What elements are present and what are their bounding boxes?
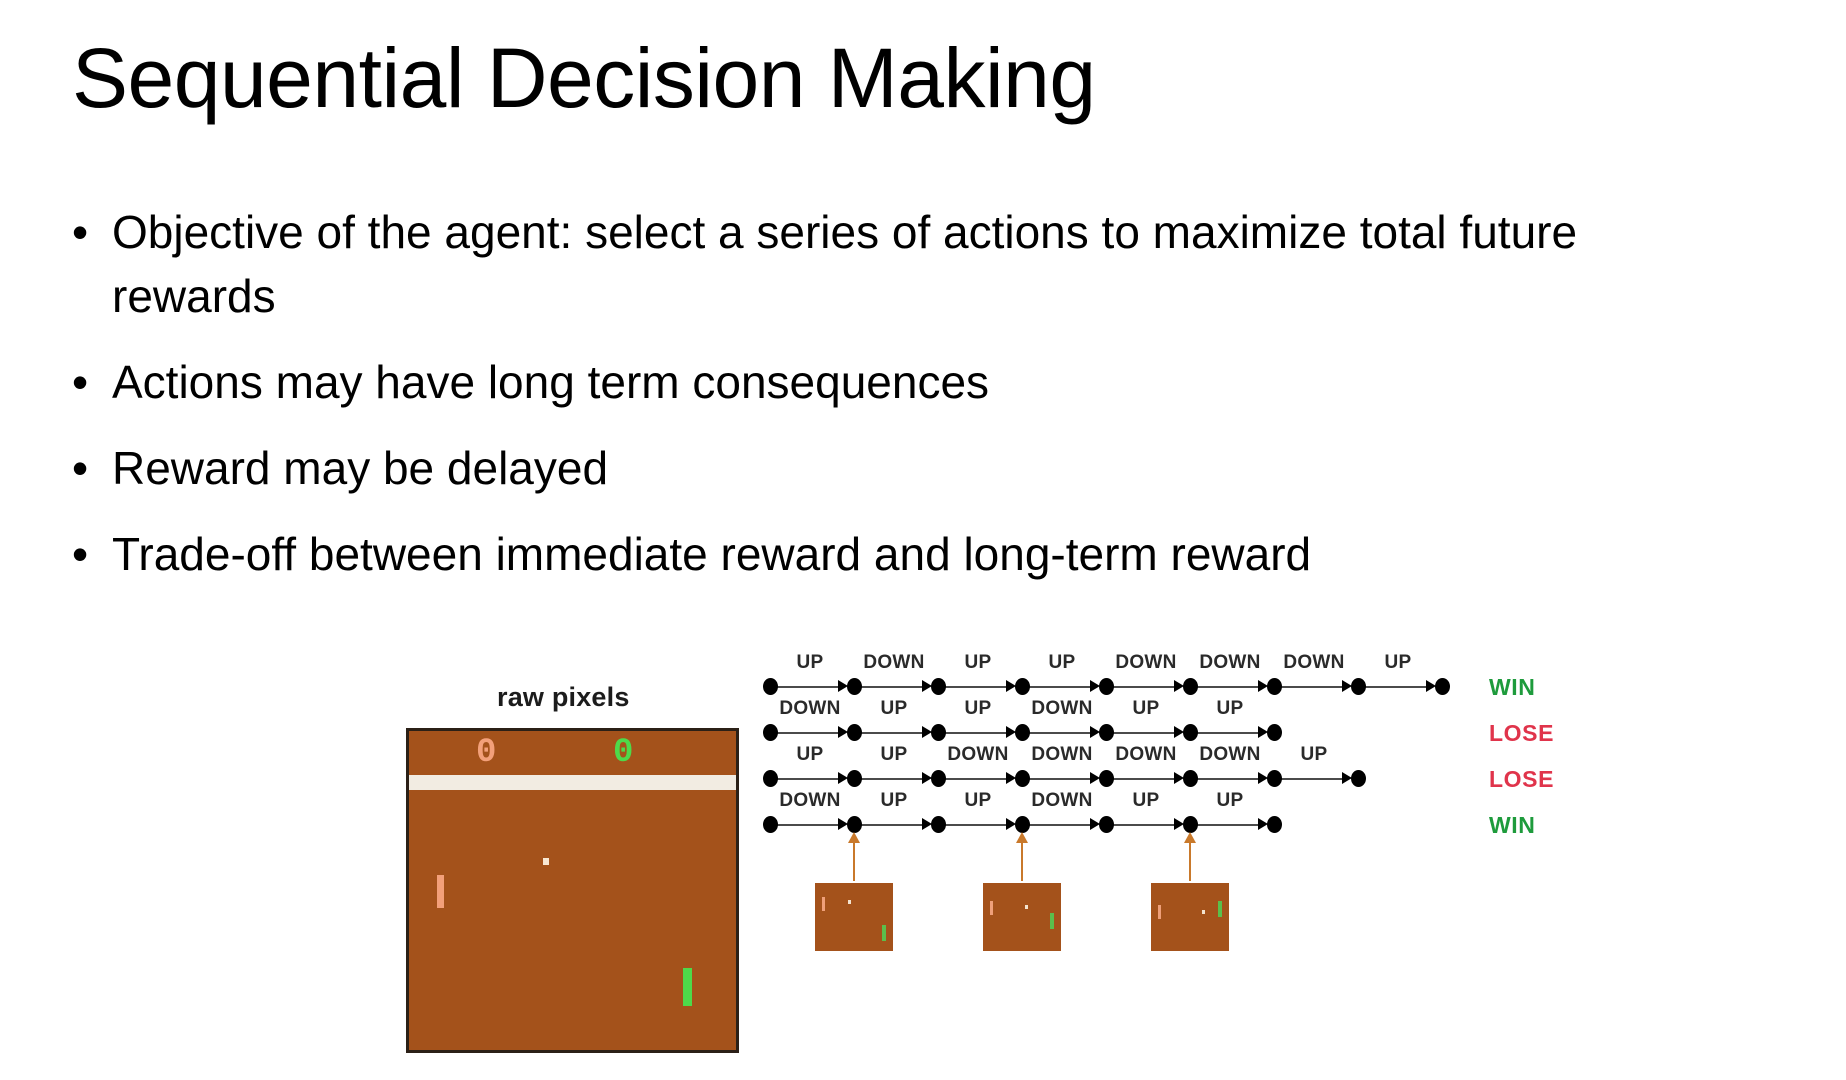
trajectory-edge: [945, 686, 1007, 688]
trajectory-state-node: [1351, 678, 1366, 695]
trajectory-row: DOWNUPUPDOWNUPUPLOSE: [0, 698, 1846, 742]
trajectory-action-label: DOWN: [1115, 744, 1176, 766]
trajectory-state-node: [1015, 678, 1030, 695]
trajectory-action-label: UP: [881, 790, 908, 812]
trajectory-action-label: UP: [1133, 698, 1160, 720]
trajectory-state-node: [931, 724, 946, 741]
trajectory-action-label: DOWN: [1115, 652, 1176, 674]
trajectory-action-label: UP: [965, 790, 992, 812]
trajectory-action-label: DOWN: [1031, 744, 1092, 766]
state-thumbnail: [1151, 883, 1229, 951]
trajectory-action-label: DOWN: [779, 698, 840, 720]
state-arrow-icon: [853, 838, 855, 881]
trajectory-action-label: UP: [881, 744, 908, 766]
thumb-paddle-left: [822, 897, 825, 911]
trajectory-action-label: UP: [965, 652, 992, 674]
trajectory-state-node: [1015, 724, 1030, 741]
trajectory-state-node: [931, 770, 946, 787]
trajectory-row: DOWNUPUPDOWNUPUPWIN: [0, 790, 1846, 834]
trajectory-action-label: UP: [1217, 790, 1244, 812]
trajectory-edge: [777, 686, 839, 688]
trajectory-outcome-label: WIN: [1489, 674, 1536, 701]
trajectory-row: UPUPDOWNDOWNDOWNDOWNUPLOSE: [0, 744, 1846, 788]
thumb-paddle-right: [1050, 913, 1054, 929]
bullet-point-icon: •: [72, 200, 112, 264]
page-title: Sequential Decision Making: [72, 34, 1096, 122]
thumb-ball: [1202, 910, 1205, 914]
bullet-text: Actions may have long term consequences: [112, 350, 989, 414]
trajectory-state-node: [1183, 724, 1198, 741]
state-arrow-icon: [1189, 838, 1191, 881]
trajectory-action-label: DOWN: [1199, 652, 1260, 674]
trajectory-state-node: [1267, 678, 1282, 695]
trajectory-action-label: UP: [1049, 652, 1076, 674]
trajectory-outcome-label: WIN: [1489, 812, 1536, 839]
bullet-text: Reward may be delayed: [112, 436, 608, 500]
bullet-text: Trade-off between immediate reward and l…: [112, 522, 1311, 586]
bullet-point-icon: •: [72, 350, 112, 414]
thumb-paddle-right: [1218, 901, 1222, 917]
thumb-paddle-left: [990, 901, 993, 915]
thumb-ball: [1025, 905, 1028, 909]
trajectory-action-label: UP: [1385, 652, 1412, 674]
trajectory-action-label: UP: [965, 698, 992, 720]
trajectory-edge: [1113, 732, 1175, 734]
trajectory-edge: [861, 778, 923, 780]
trajectory-edge: [1281, 778, 1343, 780]
trajectory-state-node: [1183, 816, 1198, 833]
trajectory-edge: [861, 824, 923, 826]
trajectory-state-node: [1099, 724, 1114, 741]
trajectory-edge: [1365, 686, 1427, 688]
trajectory-action-label: UP: [797, 652, 824, 674]
trajectory-action-label: DOWN: [1199, 744, 1260, 766]
state-arrow-icon: [1021, 838, 1023, 881]
trajectory-state-node: [1267, 724, 1282, 741]
trajectory-state-node: [931, 816, 946, 833]
trajectory-state-node: [763, 816, 778, 833]
trajectory-edge: [1113, 686, 1175, 688]
trajectory-edge: [1029, 824, 1091, 826]
trajectory-edge: [1113, 824, 1175, 826]
trajectory-edge: [777, 732, 839, 734]
trajectory-action-label: DOWN: [1283, 652, 1344, 674]
trajectory-edge: [1197, 824, 1259, 826]
trajectory-edge: [1197, 686, 1259, 688]
trajectory-action-label: UP: [1301, 744, 1328, 766]
trajectory-state-node: [1183, 770, 1198, 787]
trajectory-state-node: [931, 678, 946, 695]
state-arrow-head-icon: [848, 832, 860, 843]
trajectory-state-node: [1267, 770, 1282, 787]
trajectory-edge: [777, 778, 839, 780]
trajectory-state-node: [1351, 770, 1366, 787]
state-thumbnail: [983, 883, 1061, 951]
list-item: • Trade-off between immediate reward and…: [72, 522, 1792, 586]
trajectory-action-label: UP: [1217, 698, 1244, 720]
bullet-point-icon: •: [72, 436, 112, 500]
trajectory-action-label: UP: [797, 744, 824, 766]
list-item: • Reward may be delayed: [72, 436, 1792, 500]
trajectory-diagram: UPDOWNUPUPDOWNDOWNDOWNUPWINDOWNUPUPDOWNU…: [0, 660, 1846, 1080]
trajectory-state-node: [1099, 678, 1114, 695]
trajectory-edge: [1029, 778, 1091, 780]
trajectory-state-node: [763, 770, 778, 787]
bullet-list: • Objective of the agent: select a serie…: [72, 200, 1792, 608]
trajectory-action-label: DOWN: [779, 790, 840, 812]
figure-sequential-decision-diagram: raw pixels 0 0 UPDOWNUPUPDOWNDOWNDOWNUPW…: [0, 660, 1846, 1080]
trajectory-outcome-label: LOSE: [1489, 766, 1554, 793]
trajectory-state-node: [1099, 816, 1114, 833]
trajectory-state-node: [1183, 678, 1198, 695]
trajectory-edge: [861, 732, 923, 734]
trajectory-state-node: [847, 678, 862, 695]
trajectory-edge: [1029, 732, 1091, 734]
list-item: • Objective of the agent: select a serie…: [72, 200, 1792, 328]
trajectory-outcome-label: LOSE: [1489, 720, 1554, 747]
trajectory-action-label: UP: [881, 698, 908, 720]
trajectory-edge: [1197, 732, 1259, 734]
state-thumbnail: [815, 883, 893, 951]
state-arrow-head-icon: [1184, 832, 1196, 843]
trajectory-state-node: [1099, 770, 1114, 787]
trajectory-edge: [945, 732, 1007, 734]
trajectory-state-node: [1015, 816, 1030, 833]
thumb-paddle-right: [882, 925, 886, 941]
trajectory-edge: [1281, 686, 1343, 688]
bullet-point-icon: •: [72, 522, 112, 586]
trajectory-state-node: [1267, 816, 1282, 833]
thumb-ball: [848, 900, 851, 904]
trajectory-edge: [945, 824, 1007, 826]
trajectory-state-node: [847, 770, 862, 787]
trajectory-edge: [1029, 686, 1091, 688]
state-arrow-head-icon: [1016, 832, 1028, 843]
trajectory-edge: [1197, 778, 1259, 780]
trajectory-edge: [861, 686, 923, 688]
trajectory-action-label: DOWN: [947, 744, 1008, 766]
bullet-text: Objective of the agent: select a series …: [112, 200, 1672, 328]
trajectory-state-node: [763, 678, 778, 695]
trajectory-edge: [1113, 778, 1175, 780]
trajectory-action-label: DOWN: [1031, 698, 1092, 720]
trajectory-state-node: [763, 724, 778, 741]
trajectory-edge: [777, 824, 839, 826]
trajectory-action-label: DOWN: [1031, 790, 1092, 812]
list-item: • Actions may have long term consequence…: [72, 350, 1792, 414]
trajectory-state-node: [1435, 678, 1450, 695]
trajectory-action-label: DOWN: [863, 652, 924, 674]
thumb-paddle-left: [1158, 905, 1161, 919]
trajectory-state-node: [847, 724, 862, 741]
trajectory-action-label: UP: [1133, 790, 1160, 812]
trajectory-edge: [945, 778, 1007, 780]
trajectory-row: UPDOWNUPUPDOWNDOWNDOWNUPWIN: [0, 652, 1846, 696]
trajectory-state-node: [847, 816, 862, 833]
trajectory-state-node: [1015, 770, 1030, 787]
